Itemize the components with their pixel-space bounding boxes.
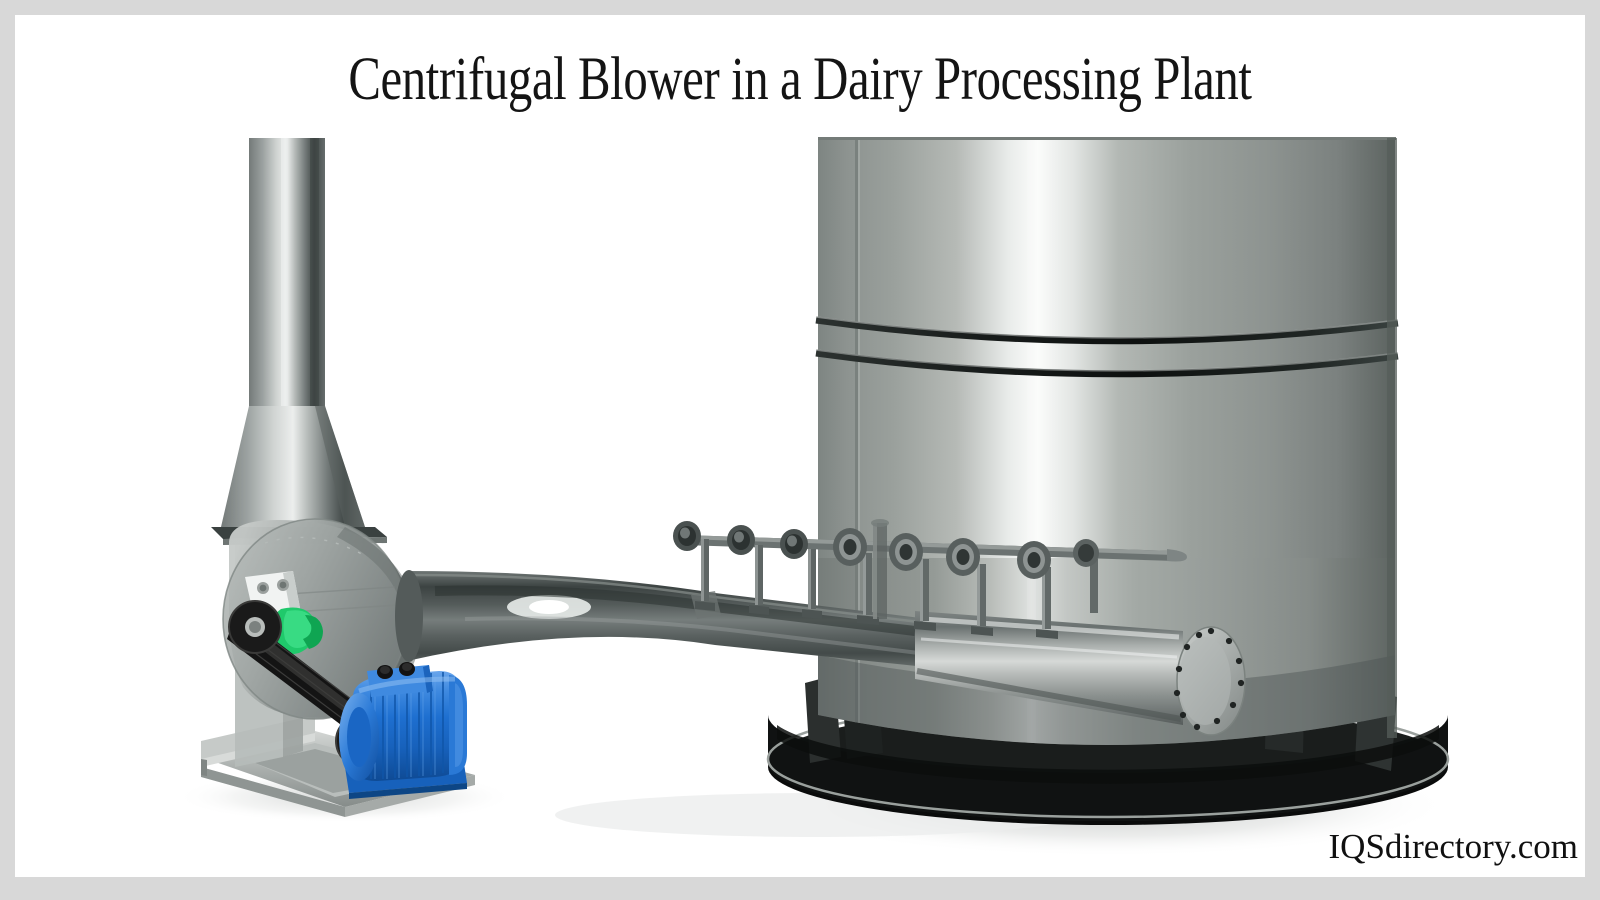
watermark-text: IQSdirectory.com (1329, 827, 1578, 867)
tank-riser-pipe (871, 519, 889, 619)
scene-illustration (15, 15, 1585, 877)
inlet-stack (211, 138, 387, 545)
page-title: Centrifugal Blower in a Dairy Processing… (172, 48, 1428, 112)
image-canvas: Centrifugal Blower in a Dairy Processing… (15, 15, 1585, 877)
process-tank (768, 137, 1448, 825)
image-frame: Centrifugal Blower in a Dairy Processing… (0, 0, 1600, 900)
